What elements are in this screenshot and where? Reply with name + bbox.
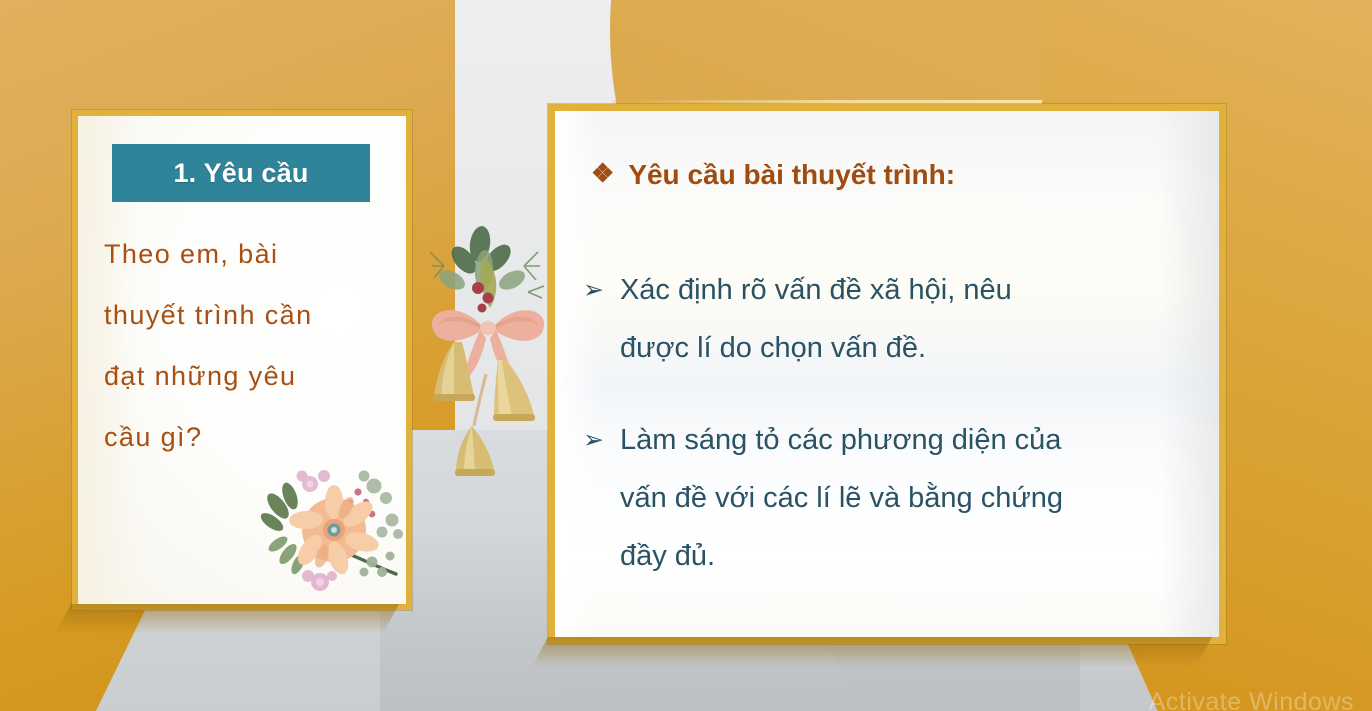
slide-canvas: 1. Yêu cầu Theo em, bài thuyết trình cần… — [0, 0, 1372, 711]
section-badge: 1. Yêu cầu — [112, 144, 370, 202]
left-question-panel: 1. Yêu cầu Theo em, bài thuyết trình cần… — [72, 110, 412, 610]
list-item-text: Làm sáng tỏ các phương diện của vấn đề v… — [620, 411, 1219, 585]
christmas-bells-bouquet-icon — [424, 222, 552, 478]
arrow-bullet-icon: ➢ — [583, 411, 604, 469]
right-panel-inner: ❖ Yêu cầu bài thuyết trình: ➢ Xác định r… — [555, 111, 1219, 637]
arrow-bullet-icon: ➢ — [583, 261, 604, 319]
left-panel-question-text: Theo em, bài thuyết trình cần đạt những … — [104, 224, 396, 468]
right-content-panel: ❖ Yêu cầu bài thuyết trình: ➢ Xác định r… — [548, 104, 1226, 644]
flower-bouquet-icon — [246, 458, 406, 598]
list-item-text: Xác định rõ vấn đề xã hội, nêu được lí d… — [620, 261, 1219, 377]
right-panel-heading: ❖ Yêu cầu bài thuyết trình: — [591, 159, 1191, 191]
list-item: ➢ Làm sáng tỏ các phương diện của vấn đề… — [583, 411, 1219, 585]
list-item: ➢ Xác định rõ vấn đề xã hội, nêu được lí… — [583, 261, 1219, 377]
diamond-bullet-icon: ❖ — [591, 159, 614, 189]
left-panel-inner: 1. Yêu cầu Theo em, bài thuyết trình cần… — [78, 116, 406, 604]
right-panel-heading-text: Yêu cầu bài thuyết trình: — [628, 159, 955, 191]
